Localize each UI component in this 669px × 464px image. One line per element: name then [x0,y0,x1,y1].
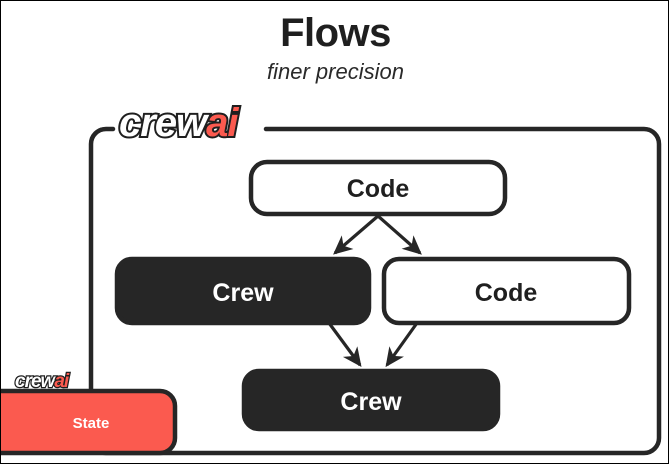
crewai-logo-state-crew: crew [15,371,54,392]
edge-code-top-to-code-middle [378,216,420,253]
flow-diagram: Code Crew Code Crew State [1,1,669,464]
crewai-logo-main-ai: ai [206,101,237,145]
node-crew-middle-label: Crew [212,279,274,307]
node-code-top-label: Code [347,175,410,203]
node-crew-middle[interactable]: Crew [117,259,369,323]
node-state[interactable]: State [1,391,175,453]
crewai-logo-state: crewai [15,372,68,391]
node-state-label: State [73,415,110,432]
node-crew-bottom-label: Crew [340,388,402,416]
edge-crew-middle-to-crew-bottom [329,323,360,365]
edge-code-middle-to-crew-bottom [387,323,417,365]
edge-code-top-to-crew-middle [335,216,378,253]
node-crew-bottom[interactable]: Crew [244,371,498,429]
node-code-middle[interactable]: Code [384,259,629,323]
crewai-logo-main: crewai [119,103,238,143]
node-code-top[interactable]: Code [251,162,505,214]
flows-diagram-page: Flows finer precision Code Crew [0,0,669,464]
crewai-logo-main-crew: crew [119,101,206,145]
node-code-middle-label: Code [475,279,538,307]
crewai-logo-state-ai: ai [54,371,68,392]
